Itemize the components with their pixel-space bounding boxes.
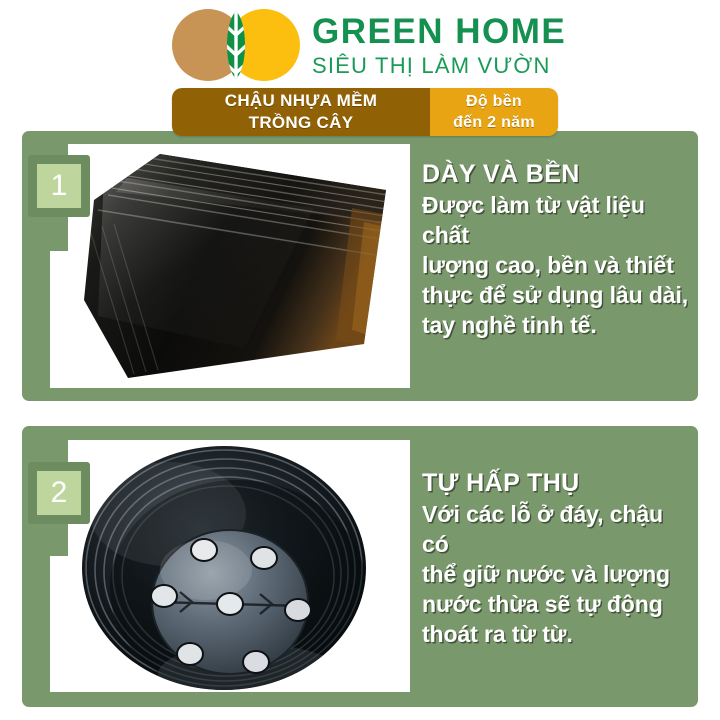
feature-heading-1: DÀY VÀ BỀN bbox=[422, 159, 690, 190]
feature-body-line-1-4: tay nghề tinh tế. bbox=[422, 310, 690, 340]
feature-body-line-2-1: Với các lỗ ở đáy, chậu có bbox=[422, 499, 690, 559]
feature-photo-2 bbox=[50, 440, 410, 692]
plastic-pot-side-image bbox=[64, 148, 396, 386]
ribbon-durability-line-1: Độ bền bbox=[466, 91, 522, 112]
leaf-icon bbox=[208, 9, 264, 81]
brand-logo bbox=[172, 5, 304, 85]
brand-header: GREEN HOME SIÊU THỊ LÀM VƯỜN bbox=[0, 0, 720, 88]
product-ribbon: CHẬU NHỰA MỀM TRỒNG CÂY Độ bền đến 2 năm bbox=[172, 88, 558, 136]
brand-wordmark: GREEN HOME SIÊU THỊ LÀM VƯỜN bbox=[312, 12, 612, 79]
brand-tagline: SIÊU THỊ LÀM VƯỜN bbox=[312, 53, 612, 79]
feature-body-line-1-1: Được làm từ vật liệu chất bbox=[422, 190, 690, 250]
ribbon-title-line-1: CHẬU NHỰA MỀM bbox=[225, 90, 377, 112]
ribbon-product-title: CHẬU NHỰA MỀM TRỒNG CÂY bbox=[172, 88, 430, 136]
product-infographic: GREEN HOME SIÊU THỊ LÀM VƯỜN CHẬU NHỰA M… bbox=[0, 0, 720, 720]
badge-number-2: 2 bbox=[51, 478, 68, 508]
ribbon-title-line-2: TRỒNG CÂY bbox=[249, 112, 354, 134]
feature-body-line-2-4: thoát ra từ từ. bbox=[422, 619, 690, 649]
feature-text-2: TỰ HẤP THỤ Với các lỗ ở đáy, chậu có thể… bbox=[422, 468, 690, 649]
ribbon-durability-badge: Độ bền đến 2 năm bbox=[430, 88, 558, 136]
feature-photo-1 bbox=[50, 144, 410, 388]
plastic-pot-interior-image bbox=[72, 442, 390, 690]
feature-body-line-1-2: lượng cao, bền và thiết bbox=[422, 250, 690, 280]
feature-body-line-1-3: thực để sử dụng lâu dài, bbox=[422, 280, 690, 310]
badge-inner-2: 2 bbox=[37, 471, 81, 515]
drainage-disc bbox=[151, 530, 311, 674]
feature-body-line-2-3: nước thừa sẽ tự động bbox=[422, 589, 690, 619]
feature-heading-2: TỰ HẤP THỤ bbox=[422, 468, 690, 499]
feature-number-badge-2: 2 bbox=[28, 462, 90, 524]
feature-panel-1: 1 bbox=[22, 131, 698, 401]
logo-leaf-clip bbox=[228, 9, 244, 81]
brand-name: GREEN HOME bbox=[312, 12, 612, 52]
ribbon-durability-line-2: đến 2 năm bbox=[453, 112, 535, 133]
badge-number-1: 1 bbox=[51, 171, 68, 201]
badge-inner-1: 1 bbox=[37, 164, 81, 208]
feature-panel-2: 2 bbox=[22, 426, 698, 707]
feature-text-1: DÀY VÀ BỀN Được làm từ vật liệu chất lượ… bbox=[422, 159, 690, 340]
feature-body-line-2-2: thể giữ nước và lượng bbox=[422, 559, 690, 589]
feature-number-badge-1: 1 bbox=[28, 155, 90, 217]
